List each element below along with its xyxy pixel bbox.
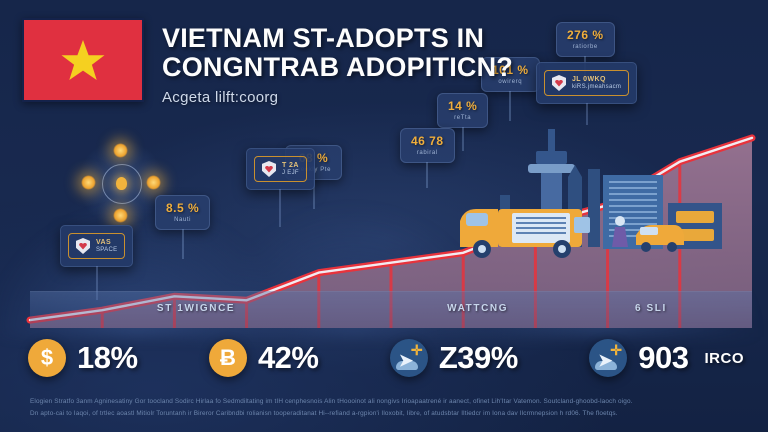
stat-dollar[interactable]: $18% — [28, 339, 138, 377]
shield-heart-icon — [262, 161, 276, 177]
card-line-1: T 2A — [282, 162, 299, 170]
axis-tick-label: WATTCNG — [447, 303, 508, 314]
vietnam-flag — [22, 18, 144, 102]
card-frame: T 2AJ EJF — [254, 156, 307, 182]
caption-line-1: Elogien Stratfo 3anm Agninesatiny Gor to… — [30, 396, 742, 408]
node-left-icon — [81, 175, 96, 190]
stat- irco[interactable]: ➤✛903IRCO — [589, 339, 744, 377]
card-frame: VASSPACE — [68, 233, 125, 259]
badge-stem — [426, 162, 428, 188]
stat-bitcoin[interactable]: Ƀ42% — [209, 339, 319, 377]
card-secure-left[interactable]: VASSPACE — [60, 225, 133, 267]
hand-transfer-icon: ➤✛ — [390, 339, 428, 377]
badge-stem — [182, 229, 184, 259]
plus-icon: ✛ — [610, 343, 622, 357]
page-title-line2: CONGNTRAB ADOPITICN? — [162, 53, 513, 82]
badge-caption: rabiral — [411, 150, 444, 156]
chart-axis-band: ST 1WIGNCEWATTCNG6 SLI — [30, 291, 752, 328]
badge-85[interactable]: 8.5 %Nauti — [155, 195, 210, 230]
stat-value: 42% — [258, 340, 319, 376]
card-text: T 2AJ EJF — [282, 162, 299, 177]
page-title-line1: VIETNAM ST-ADOPTS IN — [162, 24, 513, 53]
node-core-icon — [116, 177, 127, 190]
city-skyline-illustration — [440, 117, 740, 292]
badge-value: 8.5 % — [166, 201, 199, 215]
card-line-1: VAS — [96, 239, 117, 247]
card-stem — [279, 189, 281, 227]
badge-caption: reTta — [448, 115, 477, 121]
badge-caption: Nauti — [166, 217, 199, 223]
badge-value: 46 78 — [411, 134, 444, 148]
axis-tick-label: 6 SLI — [635, 303, 667, 314]
node-right-icon — [146, 175, 161, 190]
title-block: VIETNAM ST-ADOPTS IN CONGNTRAB ADOPITICN… — [162, 18, 513, 106]
stats-strip: $18%Ƀ42%➤✛Z39%➤✛903IRCO — [28, 332, 744, 384]
card-text: VASSPACE — [96, 239, 117, 254]
footer-caption: Elogien Stratfo 3anm Agninesatiny Gor to… — [30, 396, 742, 420]
stat-transfer[interactable]: ➤✛Z39% — [390, 339, 518, 377]
stat-value: Z39% — [439, 340, 518, 376]
stat-value: 903 — [638, 340, 688, 376]
caption-line-2: Dn apto-cai to Iaqoi, of trtlec aoastl M… — [30, 408, 742, 420]
shield-heart-icon — [76, 238, 90, 254]
card-line-2: SPACE — [96, 247, 117, 254]
stat-unit: IRCO — [704, 350, 744, 367]
hand-transfer-icon: ➤✛ — [589, 339, 627, 377]
stat-value: 18% — [77, 340, 138, 376]
page-subtitle: Acgeta lilft:coorg — [162, 89, 513, 106]
node-bottom-icon — [113, 208, 128, 223]
badge-4678[interactable]: 46 78rabiral — [400, 128, 455, 163]
bitcoin-coin-icon: Ƀ — [209, 339, 247, 377]
dollar-coin-icon: $ — [28, 339, 66, 377]
card-line-2: J EJF — [282, 170, 299, 177]
infographic-canvas: 276 %ratiorbe101 %owirerq14 %reTta68 %we… — [0, 0, 768, 432]
card-secure-mid[interactable]: T 2AJ EJF — [246, 148, 315, 190]
plus-icon: ✛ — [411, 343, 423, 357]
header: VIETNAM ST-ADOPTS IN CONGNTRAB ADOPITICN… — [22, 18, 748, 106]
network-nodes-icon — [76, 138, 166, 228]
axis-tick-label: ST 1WIGNCE — [157, 303, 235, 314]
node-top-icon — [113, 143, 128, 158]
badge-stem — [462, 127, 464, 151]
